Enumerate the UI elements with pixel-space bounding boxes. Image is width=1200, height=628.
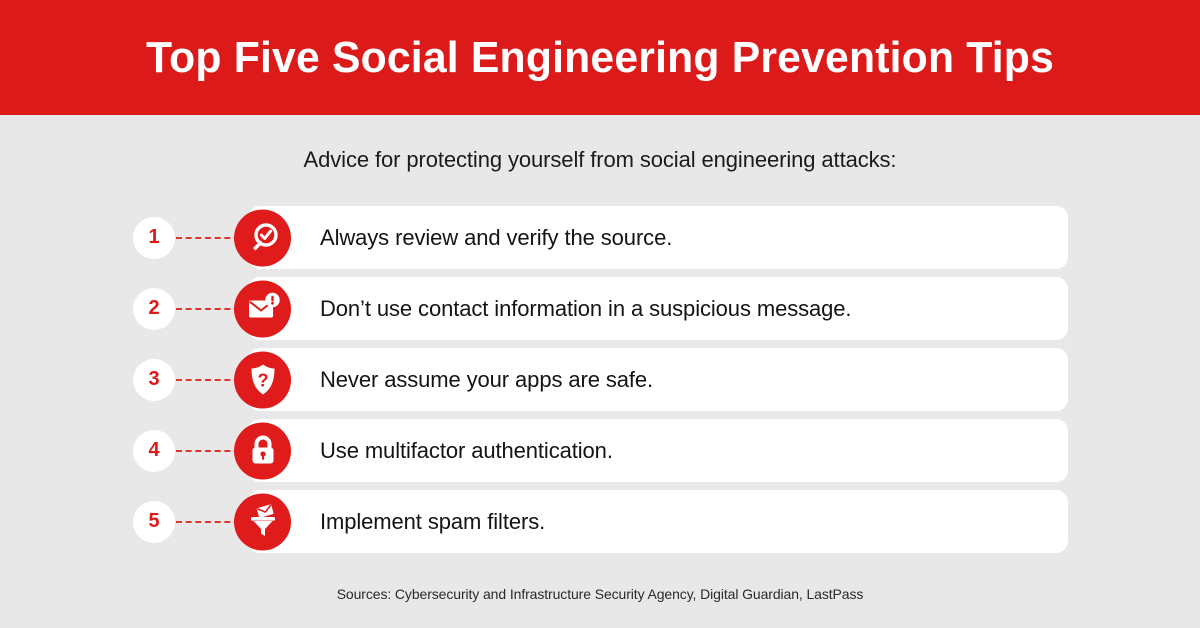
sources-note: Sources: Cybersecurity and Infrastructur…	[0, 586, 1200, 602]
dashed-connector	[176, 308, 240, 310]
magnifier-check-icon	[234, 209, 291, 266]
list-item: Don’t use contact information in a suspi…	[0, 277, 1200, 340]
tip-number-badge: 2	[133, 288, 175, 330]
list-item: Use multifactor authentication. 4	[0, 419, 1200, 482]
header-banner: Top Five Social Engineering Prevention T…	[0, 0, 1200, 115]
tip-text: Always review and verify the source.	[320, 225, 672, 251]
tip-text: Use multifactor authentication.	[320, 438, 613, 464]
tip-text: Don’t use contact information in a suspi…	[320, 296, 851, 322]
tip-number-badge: 1	[133, 217, 175, 259]
dashed-connector	[176, 379, 240, 381]
envelope-alert-icon	[234, 280, 291, 337]
list-item: Always review and verify the source. 1	[0, 206, 1200, 269]
tip-text: Implement spam filters.	[320, 509, 545, 535]
tip-card: Don’t use contact information in a suspi…	[248, 277, 1068, 340]
tip-card: Implement spam filters.	[248, 490, 1068, 553]
tip-card: Always review and verify the source.	[248, 206, 1068, 269]
padlock-icon	[234, 422, 291, 479]
svg-text:?: ?	[257, 371, 268, 391]
spam-funnel-icon	[234, 493, 291, 550]
tip-number-badge: 3	[133, 359, 175, 401]
tips-list: Always review and verify the source. 1 D…	[0, 206, 1200, 561]
dashed-connector	[176, 521, 240, 523]
list-item: Never assume your apps are safe. 3 ?	[0, 348, 1200, 411]
tip-card: Use multifactor authentication.	[248, 419, 1068, 482]
infographic-root: Top Five Social Engineering Prevention T…	[0, 0, 1200, 628]
dashed-connector	[176, 450, 240, 452]
dashed-connector	[176, 237, 240, 239]
subtitle: Advice for protecting yourself from soci…	[0, 147, 1200, 173]
tip-number-badge: 5	[133, 501, 175, 543]
list-item: Implement spam filters. 5	[0, 490, 1200, 553]
tip-text: Never assume your apps are safe.	[320, 367, 653, 393]
page-title: Top Five Social Engineering Prevention T…	[146, 36, 1054, 80]
tip-card: Never assume your apps are safe.	[248, 348, 1068, 411]
tip-number-badge: 4	[133, 430, 175, 472]
shield-question-icon: ?	[234, 351, 291, 408]
